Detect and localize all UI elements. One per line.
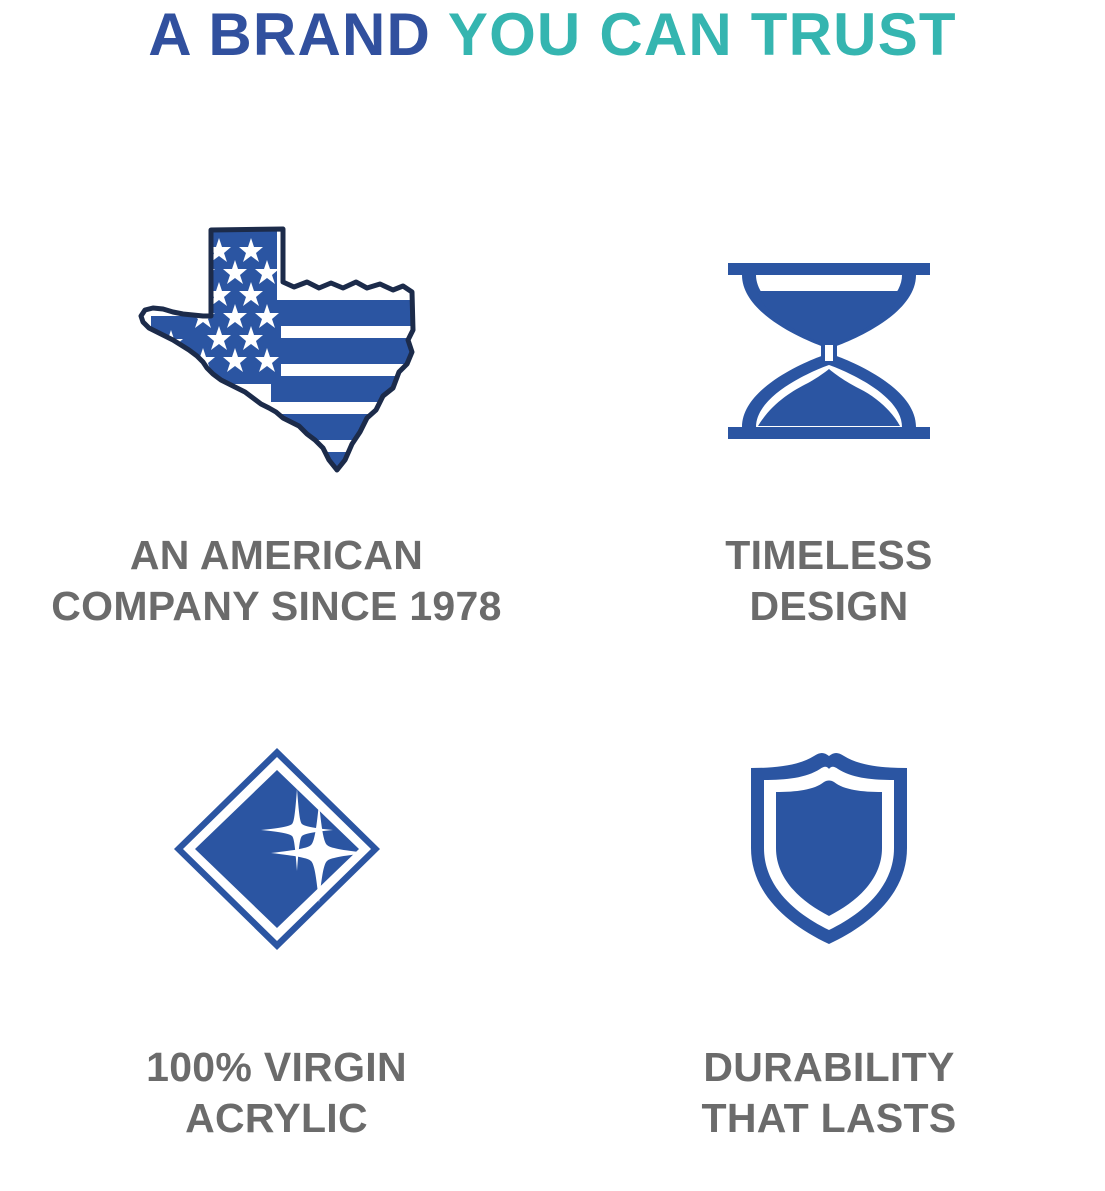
diamond-sparkle-icon-wrap: [171, 656, 383, 974]
texas-flag-icon: [131, 212, 423, 490]
feature-label-timeless-design: TIMELESS DESIGN: [725, 530, 932, 632]
page-title-secondary: YOU CAN TRUST: [448, 1, 957, 68]
shield-icon: [748, 752, 910, 946]
feature-label-durability: DURABILITY THAT LASTS: [701, 1042, 956, 1144]
hourglass-icon-wrap: [724, 96, 934, 516]
page-title-primary: A BRAND: [148, 1, 448, 68]
feature-label-american-company: AN AMERICAN COMPANY SINCE 1978: [51, 530, 501, 632]
feature-durability: DURABILITY THAT LASTS: [553, 656, 1105, 1191]
feature-grid: AN AMERICAN COMPANY SINCE 1978: [0, 96, 1105, 1191]
feature-label-virgin-acrylic: 100% VIRGIN ACRYLIC: [146, 1042, 407, 1144]
feature-american-company: AN AMERICAN COMPANY SINCE 1978: [0, 96, 553, 656]
shield-icon-wrap: [748, 656, 910, 974]
diamond-sparkle-icon: [171, 745, 383, 953]
feature-timeless-design: TIMELESS DESIGN: [553, 96, 1105, 656]
texas-flag-icon-wrap: [131, 96, 423, 516]
feature-virgin-acrylic: 100% VIRGIN ACRYLIC: [0, 656, 553, 1191]
page-title: A BRAND YOU CAN TRUST: [0, 0, 1105, 68]
hourglass-icon: [724, 261, 934, 441]
